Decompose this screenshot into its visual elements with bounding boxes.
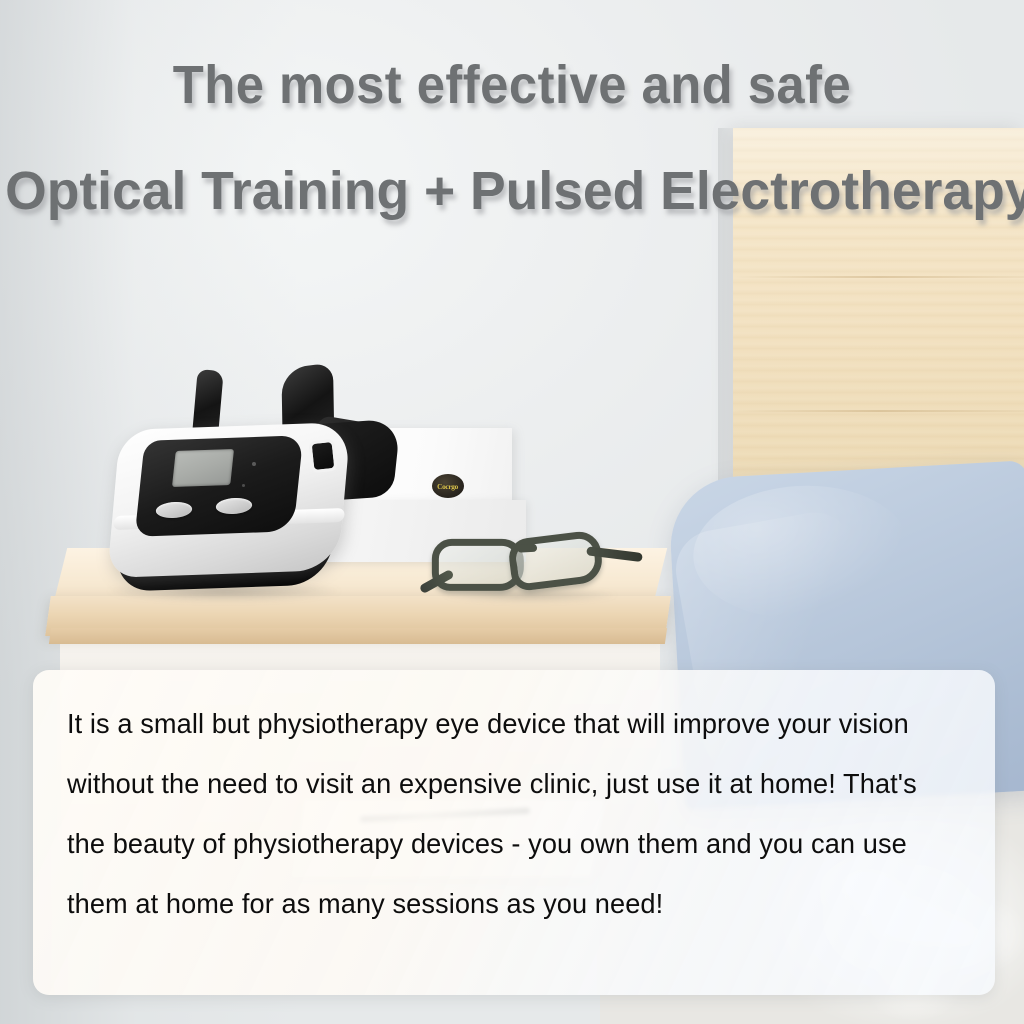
poster-root: Cocrgo The mo [0, 0, 1024, 1024]
device-lcd-screen [172, 449, 234, 487]
description-paragraph: It is a small but physiotherapy eye devi… [67, 694, 934, 934]
device-led-indicator [242, 484, 245, 487]
headboard-seam [733, 410, 1024, 412]
device-side-clip [308, 439, 337, 474]
eyeglasses-lens-right [507, 529, 605, 592]
brand-logo-badge: Cocrgo [432, 474, 464, 498]
brand-logo-text: Cocrgo [438, 482, 459, 490]
description-card: It is a small but physiotherapy eye devi… [33, 670, 995, 995]
device-led-indicator [252, 462, 256, 466]
eyeglasses-bridge [517, 544, 537, 553]
eye-massager-device [112, 362, 412, 610]
headboard-seam [733, 276, 1024, 278]
eyeglasses [430, 525, 633, 607]
nightstand-edge-band [49, 628, 667, 644]
